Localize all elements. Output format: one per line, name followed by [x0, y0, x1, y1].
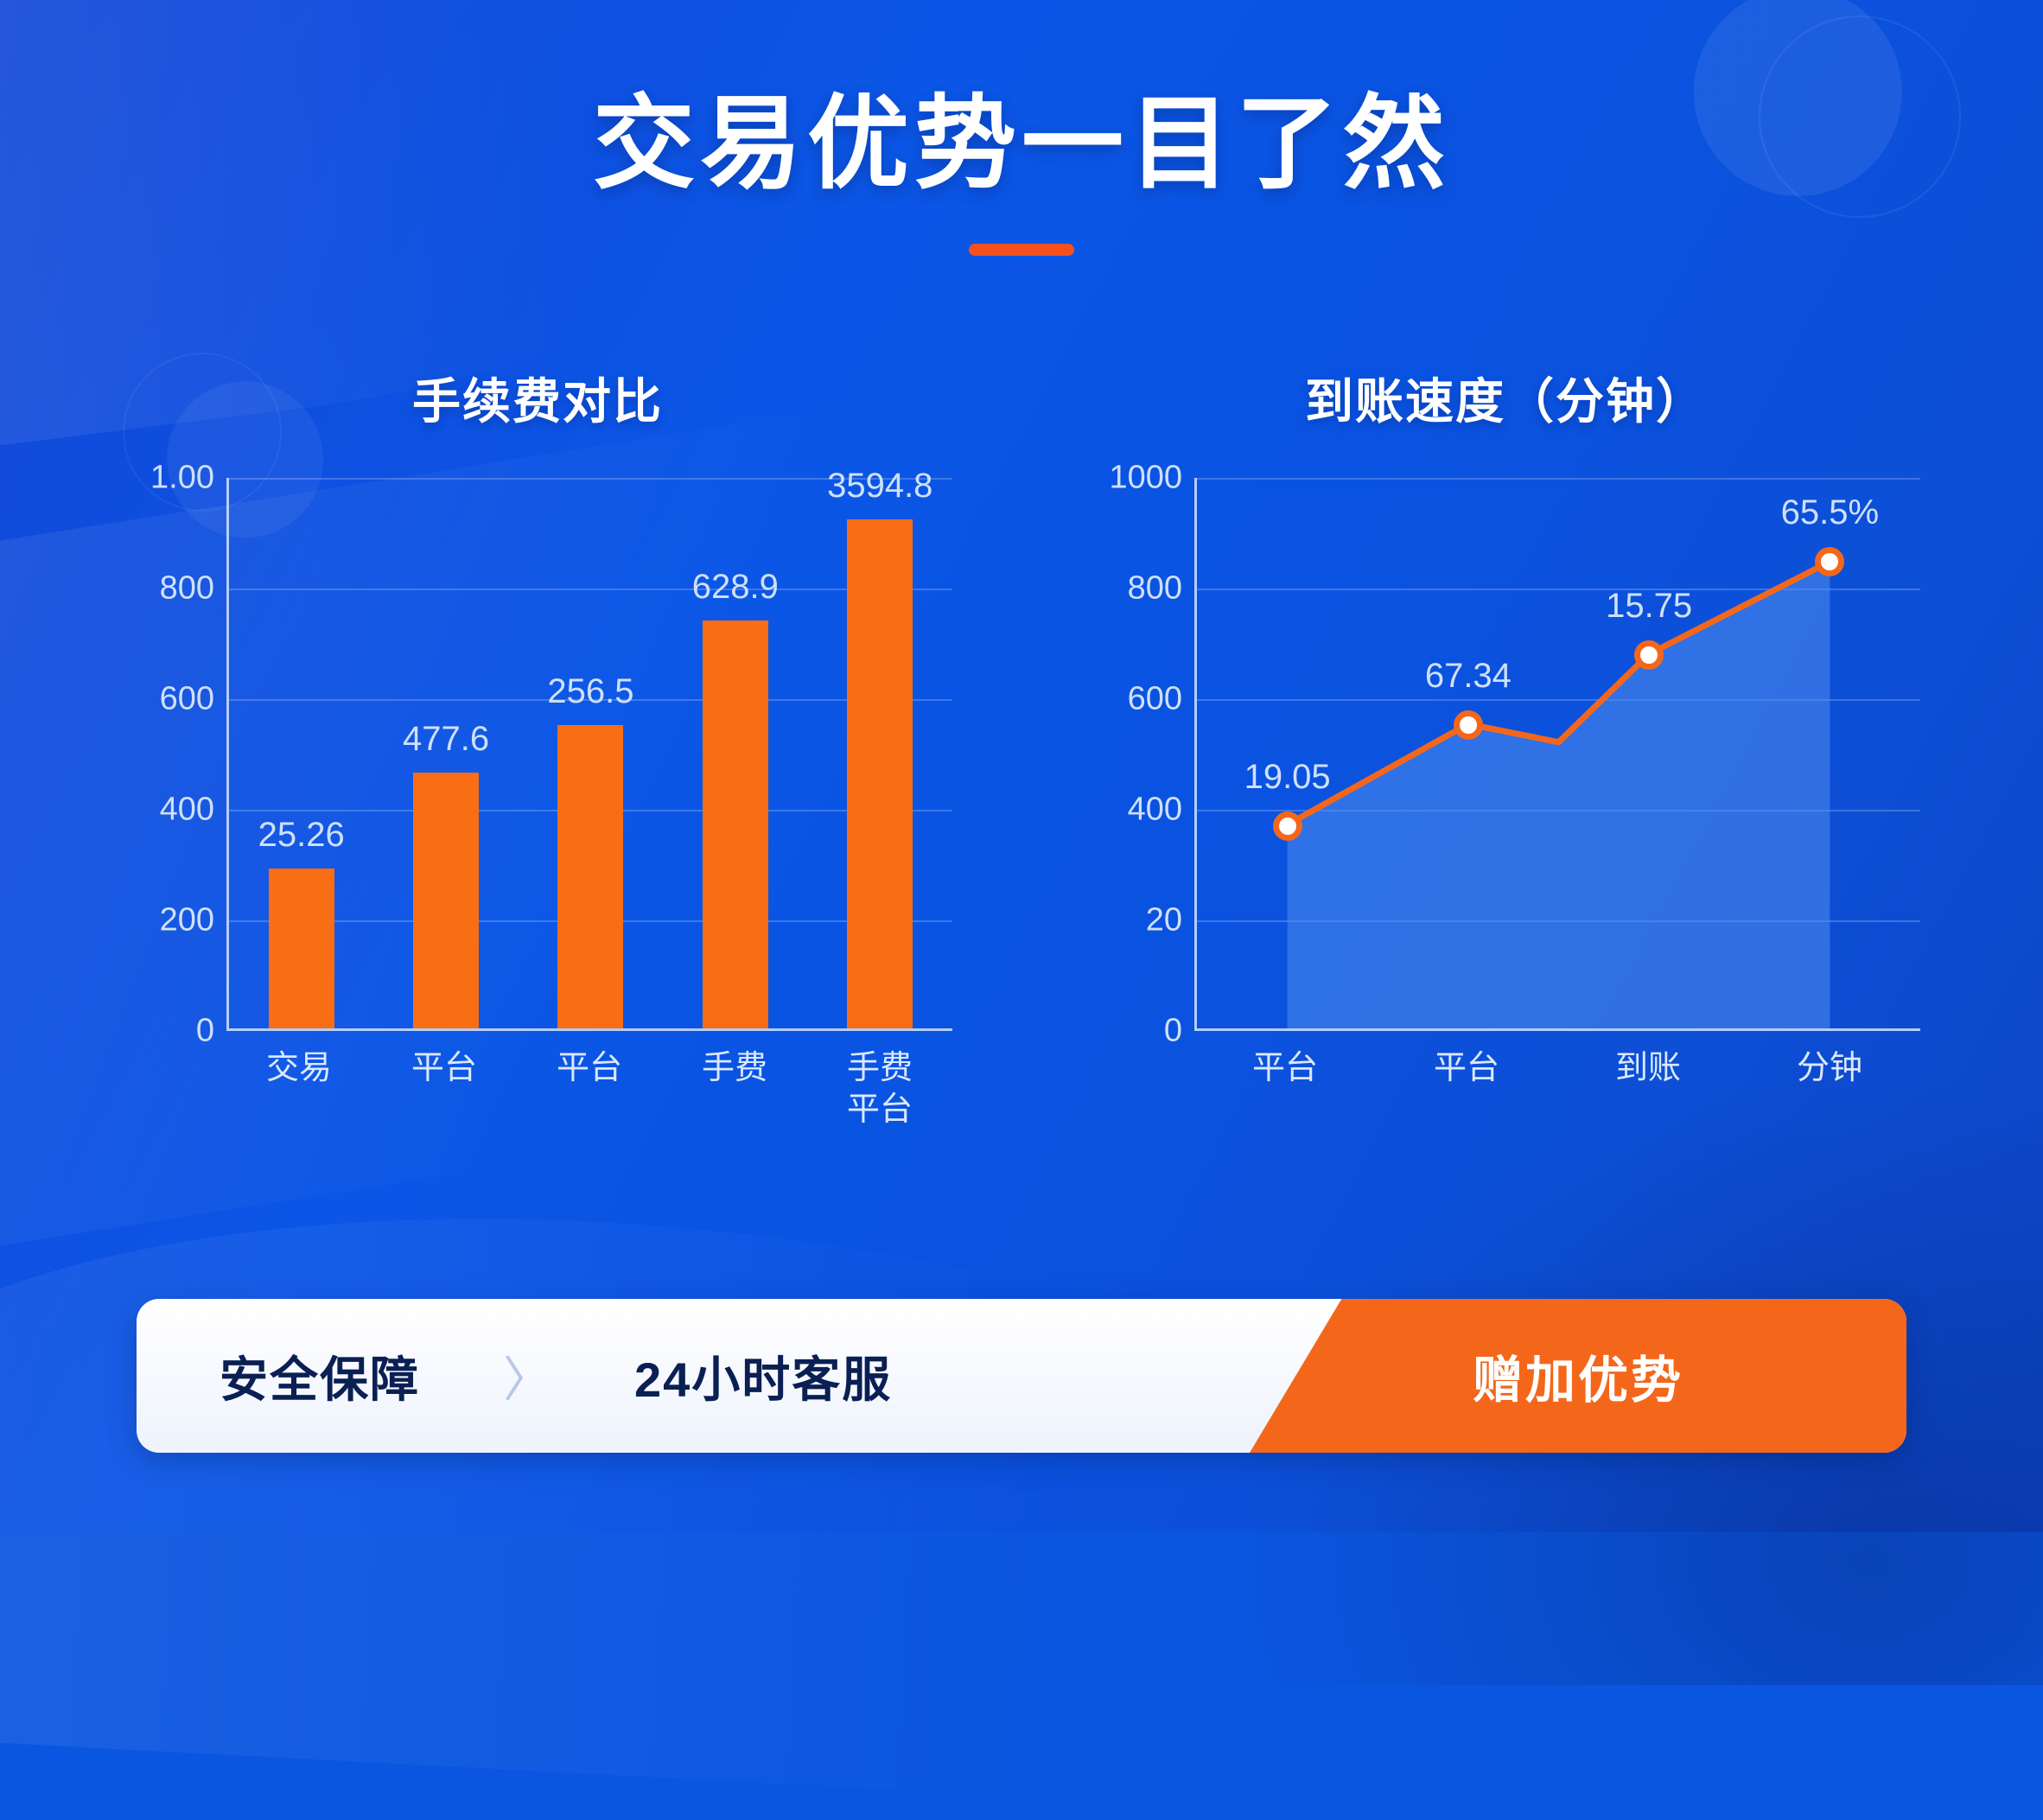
bar-rect[interactable]: [847, 519, 913, 1028]
line-chart-plot: 0204006008001000 19.0567.3415.7565.5% 平台…: [1091, 478, 1920, 1031]
line-y-tick-2: 400: [1128, 792, 1182, 829]
header: 交易优势一目了然: [0, 93, 2043, 256]
line-chart-y-axis: 0204006008001000: [1091, 478, 1194, 1031]
line-chart-marker[interactable]: [1634, 640, 1664, 670]
bottom-bar-item-1[interactable]: 24小时客服: [634, 1341, 892, 1411]
bar-y-tick-3: 600: [160, 681, 214, 718]
bottom-bar-items: 安全保障 〉 24小时客服: [137, 1341, 892, 1411]
line-x-tick-0: 平台: [1220, 1048, 1350, 1090]
page-title: 交易优势一目了然: [0, 93, 2043, 195]
line-chart-series: [1197, 478, 1920, 1028]
charts-row: 手续费对比 02004006008001.00 25.26477.6256.56…: [0, 363, 2043, 1031]
bar-x-tick-3: 手费: [687, 1048, 782, 1130]
bar-value-label: 477.6: [403, 720, 489, 759]
line-chart-area-fill: [1288, 562, 1830, 1028]
bottom-bar-item-0[interactable]: 安全保障: [220, 1341, 420, 1411]
chart-card-speed: 到账速度（分钟） 0204006008001000 19.0567.3415.7…: [1091, 363, 1920, 1031]
bar-rect[interactable]: [413, 773, 479, 1028]
bar-chart-x-axis: 交易平台平台手费手费平台: [226, 1048, 952, 1130]
line-y-tick-4: 800: [1128, 570, 1182, 608]
line-chart-point-label: 15.75: [1606, 587, 1692, 626]
bar-value-label: 25.26: [258, 816, 345, 855]
title-underline-rule: [969, 244, 1074, 256]
bar-y-tick-4: 800: [160, 570, 214, 608]
line-chart-marker[interactable]: [1815, 547, 1844, 576]
bar-x-tick-1: 平台: [397, 1048, 492, 1130]
bar-item[interactable]: 3594.8: [832, 478, 927, 1028]
line-x-tick-1: 平台: [1402, 1048, 1531, 1090]
line-y-tick-5: 1000: [1109, 460, 1182, 497]
line-chart-point-label: 65.5%: [1781, 493, 1879, 532]
bar-item[interactable]: 628.9: [688, 478, 783, 1028]
bottom-feature-bar[interactable]: 安全保障 〉 24小时客服 赠加优势: [137, 1299, 1906, 1453]
bar-chart-plot-area: 25.26477.6256.5628.93594.8: [226, 478, 952, 1031]
cta-button-label: 赠加优势: [1473, 1340, 1683, 1412]
line-y-tick-0: 0: [1164, 1013, 1182, 1050]
bar-value-label: 628.9: [692, 568, 779, 607]
line-y-tick-3: 600: [1128, 681, 1182, 718]
bar-y-tick-2: 400: [160, 792, 214, 829]
bar-y-tick-0: 0: [196, 1013, 214, 1050]
line-chart-plot-area: 19.0567.3415.7565.5%: [1194, 478, 1920, 1031]
bar-y-tick-1: 200: [160, 902, 214, 939]
line-y-tick-1: 20: [1146, 902, 1182, 939]
bar-y-tick-5: 1.00: [150, 460, 214, 497]
chart-title-speed: 到账速度（分钟）: [1091, 363, 1920, 433]
bar-chart-y-axis: 02004006008001.00: [123, 478, 226, 1031]
line-x-tick-2: 到账: [1583, 1048, 1713, 1090]
bar-item[interactable]: 25.26: [254, 478, 349, 1028]
bar-value-label: 256.5: [547, 672, 633, 711]
bar-x-tick-0: 交易: [251, 1048, 347, 1130]
line-chart-marker[interactable]: [1454, 710, 1483, 740]
bar-rect[interactable]: [703, 620, 768, 1028]
bar-series: 25.26477.6256.5628.93594.8: [229, 478, 952, 1028]
chart-title-fees: 手续费对比: [123, 363, 952, 433]
bar-rect[interactable]: [557, 725, 623, 1028]
chart-card-fees: 手续费对比 02004006008001.00 25.26477.6256.56…: [123, 363, 952, 1031]
bar-x-tick-2: 平台: [542, 1048, 637, 1130]
bar-item[interactable]: 256.5: [543, 478, 638, 1028]
bar-rect[interactable]: [269, 869, 334, 1028]
line-chart-point-label: 19.05: [1244, 758, 1331, 797]
cta-button[interactable]: 赠加优势: [1250, 1299, 1906, 1453]
chevron-right-icon: 〉: [503, 1341, 551, 1411]
line-x-tick-3: 分钟: [1765, 1048, 1894, 1090]
line-chart-marker[interactable]: [1273, 811, 1302, 841]
line-chart-x-axis: 平台平台到账分钟: [1194, 1048, 1920, 1090]
bar-item[interactable]: 477.6: [398, 478, 493, 1028]
bar-x-tick-4: 手费平台: [832, 1048, 927, 1130]
bar-value-label: 3594.8: [827, 467, 932, 506]
bar-chart-plot: 02004006008001.00 25.26477.6256.5628.935…: [123, 478, 952, 1031]
line-chart-point-label: 67.34: [1425, 657, 1512, 696]
